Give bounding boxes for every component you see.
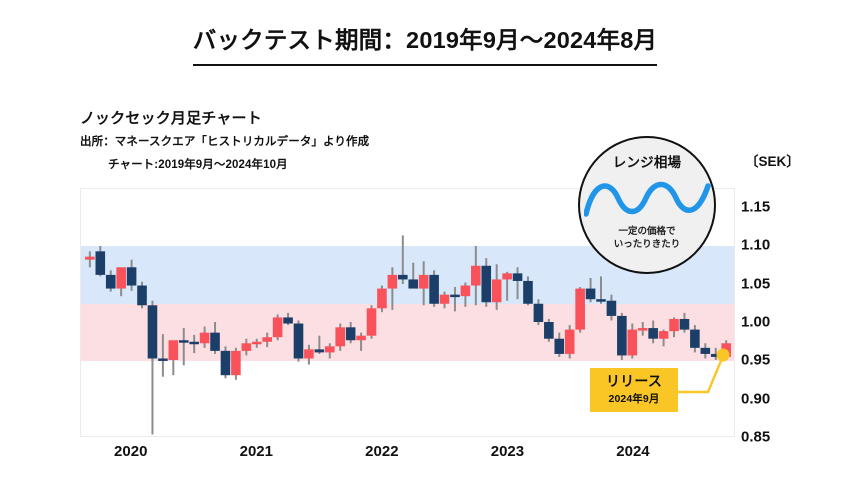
release-callout-title: リリース [606, 374, 662, 389]
chart-heading: ノックセック月足チャート [80, 107, 262, 128]
candle-body [273, 317, 283, 337]
x-axis-tick-label: 2020 [114, 443, 147, 460]
candle-body [137, 286, 147, 306]
y-axis-tick-label: 1.10 [741, 237, 770, 254]
candle-wick [360, 333, 362, 351]
candle-body [450, 295, 460, 297]
candle-body [262, 337, 272, 342]
candle-body [669, 319, 679, 331]
candle-body [429, 275, 439, 304]
candle-body [377, 289, 387, 309]
y-axis-tick-label: 1.15 [741, 199, 770, 216]
x-axis-tick-label: 2024 [616, 443, 649, 460]
candle-body [106, 275, 116, 289]
release-callout-date: 2024年9月 [609, 391, 660, 406]
page-title-text: バックテスト期間：2019年9月〜2024年8月 [193, 26, 658, 66]
candle-body [502, 273, 512, 279]
candle-body [283, 317, 293, 323]
wave-icon [584, 174, 714, 222]
candle-body [325, 346, 335, 352]
candle-body [408, 279, 418, 288]
candle-body [523, 281, 533, 304]
range-badge-subtext-line1: 一定の価格で [618, 226, 675, 237]
candle-body [648, 328, 658, 339]
candle-body [471, 266, 481, 286]
candle-body [638, 328, 648, 330]
candle-wick [162, 334, 164, 377]
chart-range-note: チャート:2019年9月〜2024年10月 [108, 156, 288, 172]
candle-body [169, 340, 179, 360]
y-axis-tick-label: 1.05 [741, 275, 770, 292]
candle-body [221, 351, 231, 375]
candle-body [158, 358, 168, 360]
candle-body [335, 327, 345, 346]
candle-body [492, 279, 502, 302]
candle-body [200, 333, 210, 344]
range-badge-title: レンジ相場 [580, 151, 714, 171]
candle-body [179, 340, 189, 342]
x-axis-tick-label: 2021 [240, 443, 273, 460]
candle-body [294, 324, 304, 359]
candle-body [95, 251, 105, 275]
release-marker-dot [717, 349, 730, 362]
candle-body [388, 275, 398, 289]
candle-body [127, 267, 137, 285]
chart-source-note: 出所：マネースクエア「ヒストリカルデータ」より作成 [80, 133, 369, 149]
range-badge-subtext-line2: いったりきたり [614, 239, 681, 250]
candle-body [398, 275, 408, 280]
candle-body [659, 331, 669, 339]
candle-body [419, 275, 429, 289]
candle-body [575, 289, 585, 330]
x-axis-tick-label: 2022 [365, 443, 398, 460]
candle-body [116, 267, 126, 288]
candle-body [607, 301, 617, 316]
candle-body [680, 319, 690, 330]
candle-body [596, 299, 606, 301]
candle-body [85, 257, 95, 260]
candle-wick [517, 267, 519, 299]
y-axis-tick-label: 0.85 [741, 429, 770, 446]
candle-body [461, 286, 471, 297]
candle-body [189, 342, 199, 344]
candle-body [252, 342, 262, 344]
candle-wick [183, 328, 185, 365]
candle-body [304, 349, 314, 358]
candle-body [586, 289, 596, 300]
candle-body [534, 304, 544, 322]
candle-body [210, 333, 220, 351]
release-callout-box: リリース 2024年9月 [590, 368, 678, 412]
candle-body [242, 343, 252, 351]
candle-body [315, 349, 325, 352]
candle-body [356, 336, 366, 341]
x-axis-tick-label: 2023 [491, 443, 524, 460]
candle-body [231, 351, 241, 375]
candle-body [346, 327, 356, 340]
candle-body [440, 295, 450, 304]
candle-body [544, 322, 554, 339]
range-badge-subtext: 一定の価格で いったりきたり [580, 226, 714, 252]
candle-wick [454, 287, 456, 311]
range-market-badge: レンジ相場 一定の価格で いったりきたり [578, 136, 716, 274]
y-axis-tick-label: 1.00 [741, 314, 770, 331]
candle-body [148, 305, 158, 358]
page-title: バックテスト期間：2019年9月〜2024年8月 [0, 26, 850, 66]
candle-body [481, 266, 491, 302]
candle-body [513, 273, 523, 281]
y-axis-labels: 1.151.101.051.000.950.900.85 [741, 0, 841, 502]
screenshot-root: バックテスト期間：2019年9月〜2024年8月 ノックセック月足チャート 出所… [0, 0, 850, 502]
candle-body [367, 308, 377, 335]
